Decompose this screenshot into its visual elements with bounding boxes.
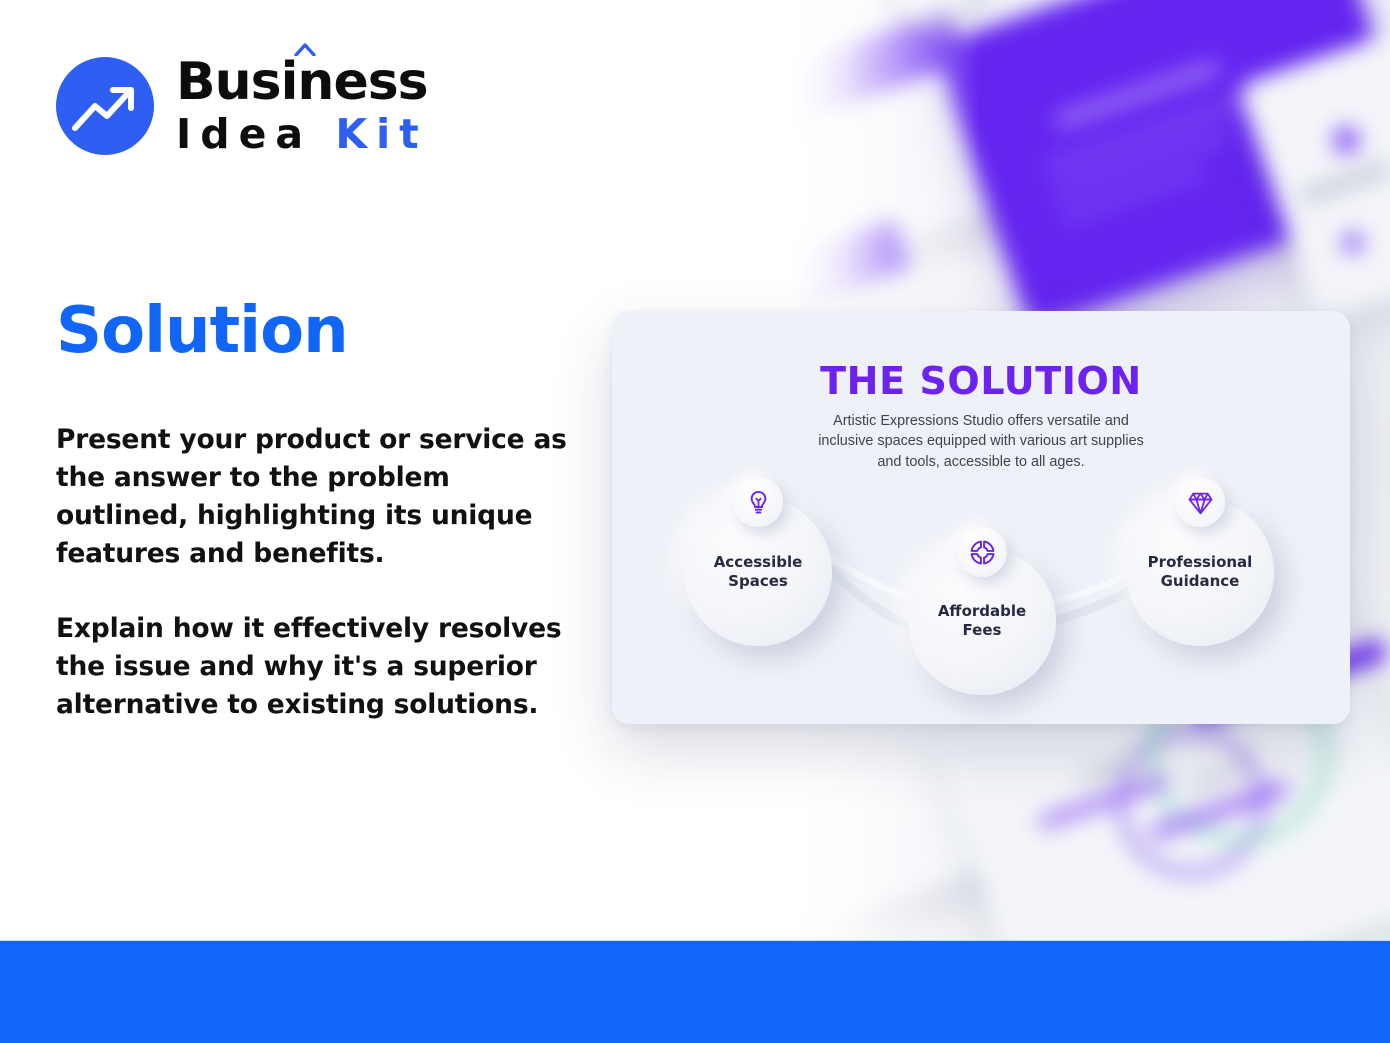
footer-bar xyxy=(0,941,1390,1043)
brand-logo[interactable]: Business Idea Kit xyxy=(56,56,428,155)
brand-name-kit: Kit xyxy=(335,110,427,158)
brand-name-line1: Business xyxy=(176,56,428,108)
body-paragraph-1: Present your product or service as the a… xyxy=(56,421,586,573)
brand-name-idea: Idea xyxy=(176,110,335,158)
feature-node-label: Accessible Spaces xyxy=(714,553,803,591)
diamond-icon xyxy=(1175,477,1225,527)
lightbulb-icon xyxy=(733,477,783,527)
lifebuoy-icon xyxy=(957,527,1007,577)
brand-name-line1-text: Business xyxy=(176,52,428,112)
feature-node-label: Affordable Fees xyxy=(938,602,1026,640)
brand-wordmark: Business Idea Kit xyxy=(176,56,428,155)
solution-card[interactable]: THE SOLUTION Artistic Expressions Studio… xyxy=(612,311,1350,724)
solution-card-title: THE SOLUTION xyxy=(612,359,1350,403)
circumflex-accent-icon xyxy=(294,43,316,56)
trend-arrow-circle-icon xyxy=(56,57,154,155)
solution-card-description: Artistic Expressions Studio offers versa… xyxy=(805,411,1157,472)
footer-hairline xyxy=(0,940,1390,941)
body-paragraph-2: Explain how it effectively resolves the … xyxy=(56,610,586,724)
slide-root: Business Idea Kit Solution Present your … xyxy=(0,0,1390,1043)
brand-name-line2: Idea Kit xyxy=(176,114,428,155)
page-title: Solution xyxy=(56,294,348,368)
feature-node-label: Professional Guidance xyxy=(1148,553,1253,591)
